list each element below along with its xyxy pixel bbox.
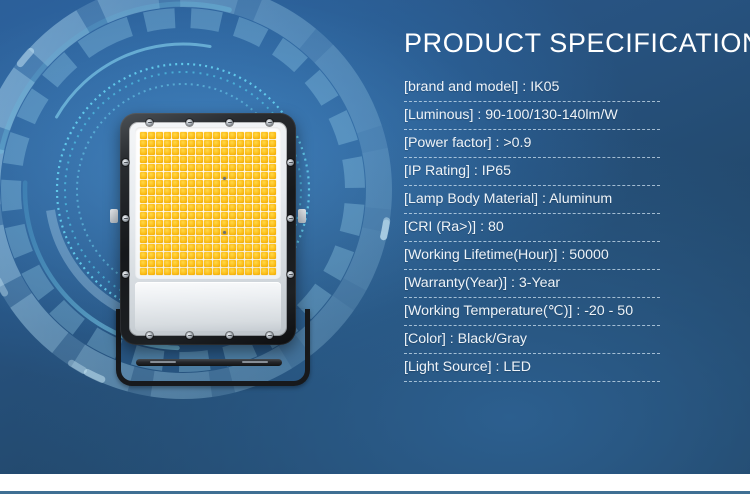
led-chip — [269, 228, 276, 235]
screw-left-3 — [122, 271, 129, 278]
spec-row-text: [IP Rating] : IP65 — [404, 161, 722, 181]
lamp-lower-body — [135, 282, 281, 331]
lamp-housing-inner — [129, 122, 287, 336]
led-chip — [213, 220, 220, 227]
led-chip — [188, 244, 195, 251]
led-chip — [229, 244, 236, 251]
led-chip — [156, 204, 163, 211]
led-chip — [188, 180, 195, 187]
screw-right-3 — [287, 271, 294, 278]
led-chip — [245, 156, 252, 163]
led-chip — [196, 236, 203, 243]
led-chip — [172, 260, 179, 267]
led-chip — [148, 164, 155, 171]
led-chip — [245, 204, 252, 211]
led-chip — [245, 228, 252, 235]
led-chip — [164, 148, 171, 155]
spec-row: [Lamp Body Material] : Aluminum — [404, 186, 722, 214]
led-chip — [196, 196, 203, 203]
led-chip — [253, 132, 260, 139]
led-chip — [229, 172, 236, 179]
led-chip — [237, 132, 244, 139]
spec-row: [IP Rating] : IP65 — [404, 158, 722, 186]
led-chip — [196, 268, 203, 275]
led-chip — [229, 164, 236, 171]
led-chip — [204, 228, 211, 235]
led-chip — [164, 140, 171, 147]
led-chip — [172, 156, 179, 163]
led-chip — [253, 212, 260, 219]
led-chip — [196, 156, 203, 163]
led-chip — [148, 148, 155, 155]
led-chip — [188, 140, 195, 147]
led-chip — [213, 236, 220, 243]
led-chip — [237, 204, 244, 211]
screw-top-3 — [226, 119, 233, 126]
led-chip — [261, 268, 268, 275]
led-chip — [172, 212, 179, 219]
led-chip — [261, 220, 268, 227]
panel-sensor-bottom — [223, 231, 226, 234]
led-chip — [269, 156, 276, 163]
spec-row-text: [Light Source] : LED — [404, 357, 722, 377]
led-chip — [245, 220, 252, 227]
led-chip — [196, 212, 203, 219]
led-chip — [245, 188, 252, 195]
led-chip — [204, 132, 211, 139]
led-chip — [148, 236, 155, 243]
led-chip — [253, 244, 260, 251]
led-chip — [156, 172, 163, 179]
led-chip — [164, 164, 171, 171]
led-chip — [196, 164, 203, 171]
led-chip — [245, 132, 252, 139]
led-chip — [156, 252, 163, 259]
led-chip — [261, 196, 268, 203]
led-chip — [172, 220, 179, 227]
led-chip — [148, 140, 155, 147]
spec-row: [Working Lifetime(Hour)] : 50000 — [404, 242, 722, 270]
led-chip — [188, 260, 195, 267]
led-chip — [140, 212, 147, 219]
led-chip — [229, 212, 236, 219]
led-chip — [253, 172, 260, 179]
spec-row-text: [brand and model] : IK05 — [404, 77, 722, 97]
led-chip — [156, 156, 163, 163]
led-chip — [148, 188, 155, 195]
led-chip — [204, 172, 211, 179]
led-chip — [229, 180, 236, 187]
led-chip — [156, 212, 163, 219]
screw-right-2 — [287, 215, 294, 222]
led-chip — [156, 140, 163, 147]
led-chip — [237, 172, 244, 179]
spec-row-text: [Power factor] : >0.9 — [404, 133, 722, 153]
led-chip — [140, 172, 147, 179]
led-chip — [140, 268, 147, 275]
led-chip — [253, 204, 260, 211]
led-chip — [261, 180, 268, 187]
led-chip — [253, 268, 260, 275]
led-chip — [156, 228, 163, 235]
led-chip — [261, 228, 268, 235]
led-chip — [253, 260, 260, 267]
led-chip — [229, 252, 236, 259]
led-chip — [148, 252, 155, 259]
led-chip — [196, 180, 203, 187]
led-chip — [172, 244, 179, 251]
led-chip — [237, 236, 244, 243]
led-chip — [237, 212, 244, 219]
led-chip — [269, 220, 276, 227]
led-chip — [148, 220, 155, 227]
led-chip — [237, 220, 244, 227]
led-chip — [148, 260, 155, 267]
led-chip — [180, 236, 187, 243]
led-chip — [140, 196, 147, 203]
led-chip — [164, 236, 171, 243]
led-chip — [156, 164, 163, 171]
screw-top-1 — [146, 119, 153, 126]
spec-row: [brand and model] : IK05 — [404, 74, 722, 102]
bracket-cross-bar — [136, 359, 282, 366]
led-chip — [245, 236, 252, 243]
led-chip — [229, 140, 236, 147]
led-chip — [245, 148, 252, 155]
led-chip — [148, 212, 155, 219]
led-chip — [213, 196, 220, 203]
led-chip — [148, 156, 155, 163]
spec-row-text: [CRI (Ra>)] : 80 — [404, 217, 722, 237]
led-chip — [180, 180, 187, 187]
led-chip — [204, 212, 211, 219]
led-chip — [156, 180, 163, 187]
led-chip — [229, 220, 236, 227]
led-chip — [245, 172, 252, 179]
screw-bottom-2 — [186, 332, 193, 339]
led-chip — [245, 164, 252, 171]
led-chip — [213, 260, 220, 267]
spec-row: [CRI (Ra>)] : 80 — [404, 214, 722, 242]
led-chip — [164, 196, 171, 203]
led-chip — [229, 132, 236, 139]
led-chip — [196, 228, 203, 235]
led-chip — [245, 252, 252, 259]
led-chip — [237, 260, 244, 267]
led-chip — [156, 260, 163, 267]
led-chip — [140, 252, 147, 259]
led-chip — [204, 140, 211, 147]
led-chip — [204, 268, 211, 275]
led-chip — [180, 228, 187, 235]
led-chip — [172, 228, 179, 235]
led-chip — [213, 252, 220, 259]
led-chip — [180, 148, 187, 155]
led-chip — [245, 196, 252, 203]
led-chip — [180, 260, 187, 267]
led-panel — [135, 127, 281, 279]
led-chip — [237, 140, 244, 147]
led-chip — [204, 156, 211, 163]
led-chip — [269, 236, 276, 243]
screw-top-4 — [266, 119, 273, 126]
spec-row: [Light Source] : LED — [404, 354, 722, 382]
led-chip — [140, 156, 147, 163]
led-chip — [180, 220, 187, 227]
led-chip — [253, 220, 260, 227]
spec-row: [Color] : Black/Gray — [404, 326, 722, 354]
led-chip — [253, 228, 260, 235]
led-chip — [156, 244, 163, 251]
led-chip — [213, 132, 220, 139]
screw-bottom-1 — [146, 332, 153, 339]
led-chip — [180, 164, 187, 171]
led-chip — [237, 252, 244, 259]
led-chip — [269, 244, 276, 251]
led-chip — [229, 188, 236, 195]
led-chip — [164, 204, 171, 211]
led-chip — [213, 204, 220, 211]
led-chip — [221, 212, 228, 219]
led-chip — [140, 132, 147, 139]
led-chip — [196, 204, 203, 211]
led-chip — [253, 180, 260, 187]
led-chip — [180, 204, 187, 211]
led-chip — [213, 172, 220, 179]
led-chip — [180, 196, 187, 203]
led-chip — [213, 140, 220, 147]
led-chip — [245, 212, 252, 219]
led-chip — [196, 244, 203, 251]
led-chip — [172, 236, 179, 243]
led-chip — [269, 164, 276, 171]
led-chip — [188, 236, 195, 243]
led-chip — [180, 188, 187, 195]
led-chip — [261, 156, 268, 163]
led-chip — [180, 140, 187, 147]
led-chip — [140, 236, 147, 243]
led-chip — [196, 172, 203, 179]
led-chip — [196, 220, 203, 227]
led-chip — [229, 204, 236, 211]
led-chip — [237, 228, 244, 235]
led-chip — [237, 156, 244, 163]
led-chip — [180, 212, 187, 219]
led-chip — [188, 196, 195, 203]
specification-block: PRODUCT SPECIFICATION [brand and model] … — [404, 26, 722, 382]
led-chip — [229, 236, 236, 243]
led-chip — [245, 140, 252, 147]
led-chip — [221, 268, 228, 275]
led-chip — [204, 188, 211, 195]
led-chip — [180, 252, 187, 259]
led-chip — [204, 196, 211, 203]
led-chip — [237, 188, 244, 195]
led-chip — [253, 148, 260, 155]
led-chip — [140, 228, 147, 235]
led-chip — [164, 156, 171, 163]
led-chip — [221, 132, 228, 139]
led-chip — [221, 252, 228, 259]
led-chip — [148, 180, 155, 187]
led-chip — [229, 156, 236, 163]
led-chip — [229, 196, 236, 203]
screw-bottom-4 — [266, 332, 273, 339]
led-chip — [180, 156, 187, 163]
led-chip — [229, 148, 236, 155]
led-chip — [164, 180, 171, 187]
screw-top-2 — [186, 119, 193, 126]
led-chip — [148, 196, 155, 203]
led-chip — [245, 180, 252, 187]
spec-row: [Working Temperature(℃)] : -20 - 50 — [404, 298, 722, 326]
led-chip — [269, 252, 276, 259]
led-chip — [221, 140, 228, 147]
led-chip — [237, 164, 244, 171]
bracket-knob-left — [110, 209, 118, 223]
led-chip — [188, 204, 195, 211]
panel-sensor-top — [223, 177, 226, 180]
led-chip — [204, 148, 211, 155]
screw-bottom-3 — [226, 332, 233, 339]
led-chip — [213, 156, 220, 163]
product-spec-banner: PRODUCT SPECIFICATION [brand and model] … — [0, 0, 750, 497]
led-chip — [156, 188, 163, 195]
led-chip — [229, 260, 236, 267]
led-chip — [204, 236, 211, 243]
led-chip — [164, 244, 171, 251]
led-chip — [172, 172, 179, 179]
led-chip — [269, 140, 276, 147]
led-chip — [221, 164, 228, 171]
led-chip — [253, 164, 260, 171]
led-chip — [188, 252, 195, 259]
led-chip — [140, 140, 147, 147]
led-chip — [221, 236, 228, 243]
led-chip — [213, 188, 220, 195]
led-chip — [140, 180, 147, 187]
screw-left-1 — [122, 159, 129, 166]
specification-list: [brand and model] : IK05[Luminous] : 90-… — [404, 74, 722, 382]
led-chip — [164, 220, 171, 227]
led-chip — [204, 220, 211, 227]
led-chip — [164, 132, 171, 139]
led-chip — [237, 196, 244, 203]
led-chip — [188, 172, 195, 179]
led-chip — [204, 244, 211, 251]
led-chip — [140, 220, 147, 227]
led-chip — [180, 172, 187, 179]
hero-panel: PRODUCT SPECIFICATION [brand and model] … — [0, 0, 750, 474]
led-chip — [180, 268, 187, 275]
led-chip — [221, 180, 228, 187]
spec-row-text: [Lamp Body Material] : Aluminum — [404, 189, 722, 209]
bracket-knob-right — [298, 209, 306, 223]
led-chip — [237, 180, 244, 187]
led-chip — [204, 260, 211, 267]
led-chip — [164, 268, 171, 275]
led-chip — [164, 212, 171, 219]
led-chip — [196, 188, 203, 195]
led-chip — [213, 180, 220, 187]
led-chip — [156, 220, 163, 227]
led-chip — [148, 228, 155, 235]
led-chip — [172, 252, 179, 259]
led-chip — [140, 188, 147, 195]
led-chip — [269, 260, 276, 267]
spec-row: [Warranty(Year)] : 3-Year — [404, 270, 722, 298]
led-chip — [213, 244, 220, 251]
led-chip — [172, 140, 179, 147]
led-chip — [164, 260, 171, 267]
led-chip — [156, 196, 163, 203]
led-chip — [237, 268, 244, 275]
led-chip — [261, 204, 268, 211]
led-chip — [213, 228, 220, 235]
led-chip — [253, 236, 260, 243]
led-chip — [140, 148, 147, 155]
led-chip — [204, 180, 211, 187]
led-chip — [148, 204, 155, 211]
spec-row-divider — [404, 381, 660, 382]
led-chip — [253, 188, 260, 195]
spec-row-text: [Color] : Black/Gray — [404, 329, 722, 349]
spec-row-text: [Warranty(Year)] : 3-Year — [404, 273, 722, 293]
led-chip — [188, 188, 195, 195]
screw-left-2 — [122, 215, 129, 222]
bottom-divider — [0, 491, 750, 494]
led-chip — [261, 172, 268, 179]
lamp-housing — [120, 113, 296, 345]
led-flood-light-product — [108, 113, 308, 381]
led-chip — [221, 244, 228, 251]
led-chip — [229, 228, 236, 235]
led-chip — [213, 164, 220, 171]
led-chip — [172, 164, 179, 171]
led-chip — [253, 156, 260, 163]
led-chip — [261, 252, 268, 259]
led-chip — [269, 180, 276, 187]
led-chip — [237, 244, 244, 251]
led-chip — [213, 212, 220, 219]
spec-row-text: [Working Lifetime(Hour)] : 50000 — [404, 245, 722, 265]
led-chip — [221, 188, 228, 195]
led-chip — [213, 268, 220, 275]
led-chip — [172, 180, 179, 187]
led-chip — [269, 204, 276, 211]
led-chip — [196, 132, 203, 139]
screw-right-1 — [287, 159, 294, 166]
led-chip — [156, 132, 163, 139]
led-chip — [245, 244, 252, 251]
led-chip — [188, 164, 195, 171]
led-chip — [148, 244, 155, 251]
led-chip — [261, 148, 268, 155]
led-chip — [221, 204, 228, 211]
led-chip — [188, 156, 195, 163]
led-chip — [180, 244, 187, 251]
led-chip — [164, 228, 171, 235]
led-chip — [269, 188, 276, 195]
led-chip — [188, 212, 195, 219]
led-chip — [245, 268, 252, 275]
led-chip — [188, 268, 195, 275]
led-chip — [148, 172, 155, 179]
led-chip — [164, 188, 171, 195]
led-chip — [261, 212, 268, 219]
led-chip — [172, 148, 179, 155]
led-chip — [148, 132, 155, 139]
